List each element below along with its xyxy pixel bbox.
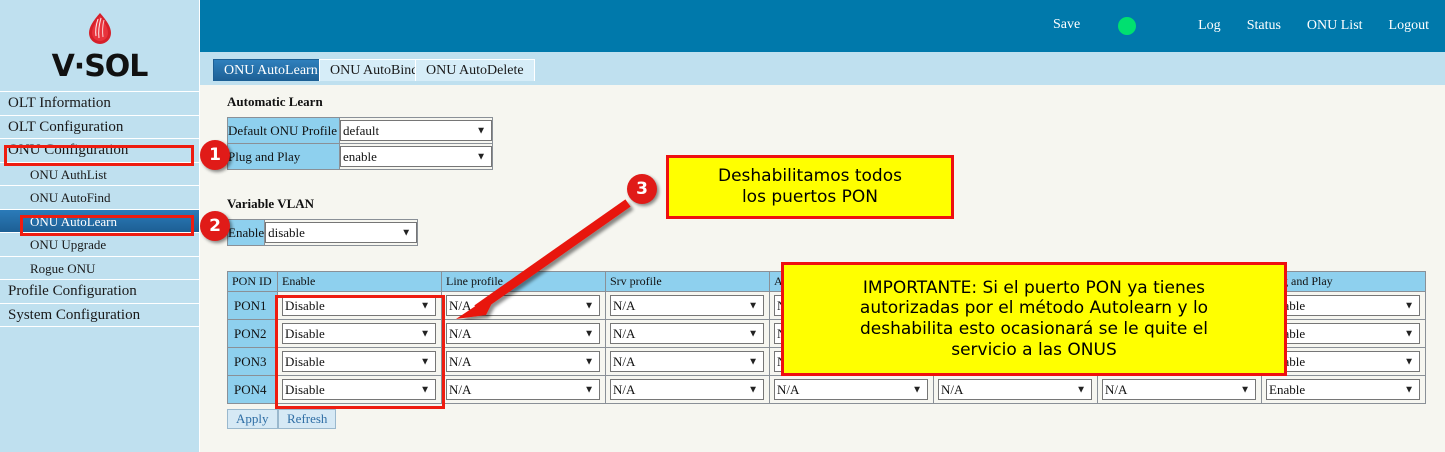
sidebar-item-profile-configuration[interactable]: Profile Configuration — [0, 280, 199, 304]
pon2-srv-profile-select[interactable]: N/A — [610, 323, 764, 344]
default-onu-profile-select-wrap: default ▼ — [340, 120, 492, 141]
sidebar-item-olt-configuration[interactable]: OLT Configuration — [0, 116, 199, 140]
save-button[interactable]: Save — [1053, 17, 1080, 33]
refresh-button[interactable]: Refresh — [278, 409, 336, 429]
field-default-onu-profile: default ▼ — [340, 118, 493, 144]
cell-pon-id: PON3 — [228, 348, 278, 376]
callout-2-line-2: autorizadas por el método Autolearn y lo — [860, 298, 1208, 319]
top-link-status[interactable]: Status — [1247, 18, 1281, 34]
callout-1-line-1: Deshabilitamos todos — [718, 166, 902, 187]
variable-vlan-form: Enable disable ▼ — [227, 219, 418, 246]
cell-pon-id: PON4 — [228, 376, 278, 404]
plug-and-play-select-wrap: enable ▼ — [340, 146, 492, 167]
callout-1-line-2: los puertos PON — [718, 187, 902, 208]
column-header-line-profile: Line profile — [442, 272, 606, 292]
tab-onu-autodelete[interactable]: ONU AutoDelete — [415, 59, 535, 81]
callout-important-warning: IMPORTANTE: Si el puerto PON ya tienes a… — [781, 262, 1287, 376]
callout-2-text: IMPORTANTE: Si el puerto PON ya tienes a… — [860, 278, 1208, 361]
pon4-col6-select[interactable]: N/A — [938, 379, 1092, 400]
automatic-learn-form: Default ONU Profile default ▼ Plug and P… — [227, 117, 493, 170]
cell-enable: Disable▼ — [278, 376, 442, 404]
callout-2-line-1: IMPORTANTE: Si el puerto PON ya tienes — [860, 278, 1208, 299]
plug-and-play-select[interactable]: enable — [340, 146, 492, 167]
pon1-srv-profile-select[interactable]: N/A — [610, 295, 764, 316]
brand-logo[interactable]: V·SOL — [0, 0, 199, 92]
pon4-col7-select[interactable]: N/A — [1102, 379, 1256, 400]
annotation-badge-1: 1 — [200, 140, 230, 170]
column-header-srv-profile: Srv profile — [606, 272, 770, 292]
tab-strip: ONU AutoLearn ONU AutoBind ONU AutoDelet… — [200, 52, 1445, 85]
sidebar-item-onu-upgrade[interactable]: ONU Upgrade — [0, 233, 199, 257]
tab-onu-autobind[interactable]: ONU AutoBind — [319, 59, 429, 81]
top-link-log[interactable]: Log — [1198, 18, 1221, 34]
pon4-line-profile-select[interactable]: N/A — [446, 379, 600, 400]
pon1-enable-select[interactable]: Disable — [282, 295, 436, 316]
top-link-onu-list[interactable]: ONU List — [1307, 18, 1363, 34]
pon1-plug-and-play-select[interactable]: Enable — [1266, 295, 1420, 316]
cell-srv-profile: N/A▼ — [606, 376, 770, 404]
sidebar-item-onu-autolearn[interactable]: ONU AutoLearn — [0, 210, 199, 234]
top-bar-links: Log Status ONU List Logout — [1198, 0, 1445, 52]
cell-pon-id: PON1 — [228, 292, 278, 320]
pon2-enable-select[interactable]: Disable — [282, 323, 436, 344]
sidebar-item-olt-information[interactable]: OLT Information — [0, 92, 199, 116]
table-row: PON4 Disable▼ N/A▼ N/A▼ N/A▼ N/A▼ N/A▼ E… — [228, 376, 1426, 404]
variable-vlan-enable-select[interactable]: disable — [265, 222, 417, 243]
sidebar-item-onu-configuration[interactable]: ONU Configuration — [0, 139, 199, 163]
cell-auth-mode: N/A▼ — [770, 376, 934, 404]
form-row-default-onu-profile: Default ONU Profile default ▼ — [228, 118, 493, 144]
pon4-srv-profile-select[interactable]: N/A — [610, 379, 764, 400]
form-row-variable-vlan-enable: Enable disable ▼ — [228, 220, 418, 246]
pon1-line-profile-select[interactable]: N/A — [446, 295, 600, 316]
top-bar: Save Log Status ONU List Logout — [200, 0, 1445, 52]
cell-plug-and-play: Enable▼ — [1262, 376, 1426, 404]
annotation-badge-2: 2 — [200, 211, 230, 241]
annotation-badge-3: 3 — [627, 174, 657, 204]
cell-pon-id: PON2 — [228, 320, 278, 348]
pon3-enable-select[interactable]: Disable — [282, 351, 436, 372]
cell-line-profile: N/A▼ — [442, 348, 606, 376]
pon3-line-profile-select[interactable]: N/A — [446, 351, 600, 372]
cell-enable: Disable▼ — [278, 320, 442, 348]
top-link-logout[interactable]: Logout — [1389, 18, 1429, 34]
variable-vlan-select-wrap: disable ▼ — [265, 222, 417, 243]
sidebar-item-rogue-onu[interactable]: Rogue ONU — [0, 257, 199, 281]
cell-line-profile: N/A▼ — [442, 320, 606, 348]
brand-name: V·SOL — [52, 52, 148, 82]
column-header-pon-id: PON ID — [228, 272, 278, 292]
cell-srv-profile: N/A▼ — [606, 348, 770, 376]
cell-srv-profile: N/A▼ — [606, 320, 770, 348]
default-onu-profile-select[interactable]: default — [340, 120, 492, 141]
pon2-line-profile-select[interactable]: N/A — [446, 323, 600, 344]
apply-button[interactable]: Apply — [227, 409, 278, 429]
page-root: V·SOL OLT Information OLT Configuration … — [0, 0, 1445, 452]
cell-srv-profile: N/A▼ — [606, 292, 770, 320]
pon2-plug-and-play-select[interactable]: Enable — [1266, 323, 1420, 344]
callout-2-line-4: servicio a las ONUS — [860, 340, 1208, 361]
vsol-droplet-logo-icon — [80, 10, 120, 50]
sidebar-item-system-configuration[interactable]: System Configuration — [0, 304, 199, 328]
field-plug-and-play: enable ▼ — [340, 144, 493, 170]
callout-2-line-3: deshabilita esto ocasionará se le quite … — [860, 319, 1208, 340]
sidebar: V·SOL OLT Information OLT Configuration … — [0, 0, 200, 452]
cell-line-profile: N/A▼ — [442, 376, 606, 404]
variable-vlan-heading: Variable VLAN — [227, 196, 314, 212]
cell-line-profile: N/A▼ — [442, 292, 606, 320]
column-header-enable: Enable — [278, 272, 442, 292]
callout-disable-all-pon: Deshabilitamos todos los puertos PON — [666, 155, 954, 219]
sidebar-item-onu-autofind[interactable]: ONU AutoFind — [0, 186, 199, 210]
cell-col6: N/A▼ — [934, 376, 1098, 404]
save-status-led-icon — [1118, 17, 1136, 35]
form-row-plug-and-play: Plug and Play enable ▼ — [228, 144, 493, 170]
label-plug-and-play: Plug and Play — [228, 144, 340, 170]
cell-col7: N/A▼ — [1098, 376, 1262, 404]
label-default-onu-profile: Default ONU Profile — [228, 118, 340, 144]
field-variable-vlan-enable: disable ▼ — [265, 220, 418, 246]
sidebar-item-onu-authlist[interactable]: ONU AuthList — [0, 163, 199, 187]
cell-enable: Disable▼ — [278, 292, 442, 320]
callout-1-text: Deshabilitamos todos los puertos PON — [718, 166, 902, 207]
automatic-learn-heading: Automatic Learn — [227, 94, 323, 110]
pon4-enable-select[interactable]: Disable — [282, 379, 436, 400]
label-variable-vlan-enable: Enable — [228, 220, 265, 246]
pon4-auth-mode-select[interactable]: N/A — [774, 379, 928, 400]
pon3-srv-profile-select[interactable]: N/A — [610, 351, 764, 372]
tab-onu-autolearn[interactable]: ONU AutoLearn — [213, 59, 329, 81]
cell-enable: Disable▼ — [278, 348, 442, 376]
pon3-plug-and-play-select[interactable]: Enable — [1266, 351, 1420, 372]
pon4-plug-and-play-select[interactable]: Enable — [1266, 379, 1420, 400]
